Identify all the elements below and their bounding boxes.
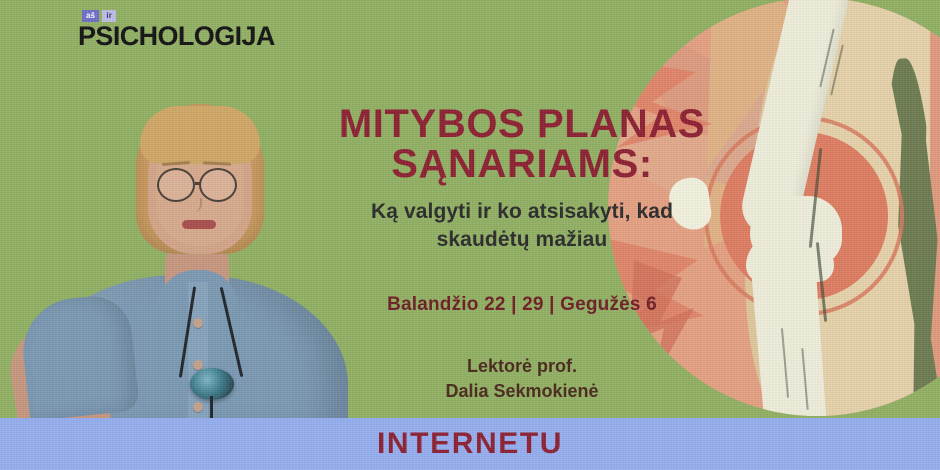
knee-joint-illustration: [608, 0, 940, 416]
portrait-glasses-bridge: [195, 182, 201, 185]
lecturer-portrait: [40, 70, 340, 420]
format-banner-label: INTERNETU: [377, 427, 563, 461]
portrait-button: [193, 402, 203, 412]
portrait-button: [193, 318, 203, 328]
portrait-fringe: [140, 106, 260, 164]
pain-burst-icon: [608, 0, 940, 416]
illustration-circle: [608, 0, 940, 416]
portrait-sleeve: [18, 293, 140, 422]
brand-logo[interactable]: aš ir PSICHOLOGIJA: [78, 10, 275, 50]
portrait-glasses-lens: [157, 168, 195, 202]
portrait-glasses-lens: [199, 168, 237, 202]
format-banner: INTERNETU: [0, 418, 940, 470]
portrait-lips: [182, 220, 216, 229]
logo-wordmark: PSICHOLOGIJA: [78, 22, 275, 50]
webinar-poster: aš ir PSICHOLOGIJA MITYBOS PLANAS SĄNARI…: [0, 0, 940, 470]
portrait-button: [193, 360, 203, 370]
